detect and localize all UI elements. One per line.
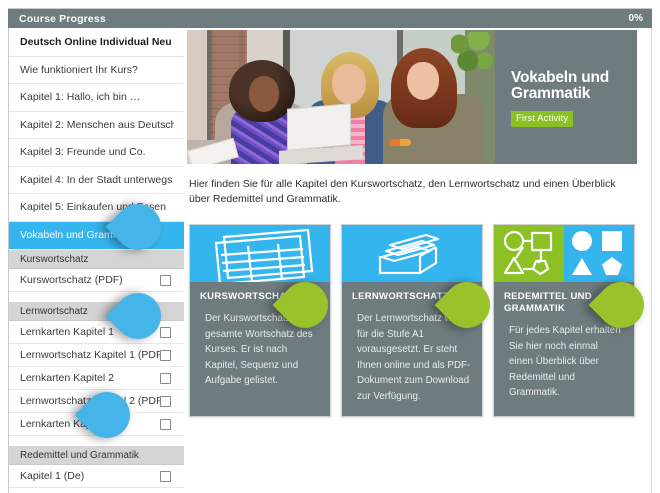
- sidebar-item-label: Kapitel 4: In der Stadt unterwegs: [20, 174, 172, 186]
- shapes-diagram-left: [494, 225, 564, 282]
- sidebar-spacer: [9, 436, 184, 445]
- course-page: Course Progress 0% Deutsch Online Indivi…: [0, 0, 660, 493]
- sidebar-entry-label: Lernkarten Kapitel 2: [20, 372, 114, 384]
- stacked-worksheets-icon: [190, 225, 330, 282]
- sidebar-course-title-label: Deutsch Online Individual Neu: [20, 36, 172, 48]
- hero-banner: Vokabeln und Grammatik First Activity: [187, 30, 637, 164]
- sidebar-entry-label: Lernkarten Kapitel 1: [20, 326, 114, 338]
- sidebar-item-kapitel-1[interactable]: Kapitel 1: Hallo, ich bin …: [9, 84, 184, 112]
- hero-title: Vokabeln und Grammatik: [511, 70, 621, 102]
- photo-laptop: [279, 106, 363, 162]
- sidebar-group-label: Kurswortschatz: [20, 254, 88, 265]
- sidebar-item-label: Kapitel 2: Menschen aus Deutschland: [20, 119, 174, 131]
- sidebar-entry-lernkarten-kapitel-2[interactable]: Lernkarten Kapitel 2: [9, 367, 184, 390]
- sidebar-item-wie-funktioniert[interactable]: Wie funktioniert Ihr Kurs?: [9, 57, 184, 85]
- main-content: Vokabeln und Grammatik First Activity Hi…: [184, 29, 644, 492]
- card-text: Der Lernwortschatz wird für die Stufe A1…: [352, 311, 472, 404]
- sidebar-course-title: Deutsch Online Individual Neu: [9, 29, 184, 57]
- shapes-diagram-right: [564, 225, 634, 282]
- sidebar-entry-label: Kurswortschatz (PDF): [20, 274, 123, 286]
- sidebar-group-kurswortschatz: Kurswortschatz: [9, 249, 184, 269]
- sidebar-entry-label: Kapitel 1 (De): [20, 470, 84, 482]
- sidebar-item-kapitel-2[interactable]: Kapitel 2: Menschen aus Deutschland: [9, 112, 184, 140]
- sidebar-entry-kurswortschatz-pdf[interactable]: Kurswortschatz (PDF): [9, 269, 184, 292]
- sidebar-group-label: Lernwortschatz: [20, 306, 88, 317]
- sidebar-item-label: Wie funktioniert Ihr Kurs?: [20, 64, 138, 76]
- intro-paragraph: Hier finden Sie für alle Kapitel den Kur…: [189, 177, 634, 207]
- sidebar-entry-kapitel-1-de[interactable]: Kapitel 1 (De): [9, 465, 184, 488]
- sidebar-entry-checkbox[interactable]: [160, 396, 171, 407]
- sidebar-group-label: Redemittel und Grammatik: [20, 450, 139, 461]
- sidebar-entry-checkbox[interactable]: [160, 471, 171, 482]
- sidebar-item-kapitel-3[interactable]: Kapitel 3: Freunde und Co.: [9, 139, 184, 167]
- first-activity-badge[interactable]: First Activity: [511, 111, 573, 127]
- sidebar-entry-label: Lernwortschatz Kapitel 1 (PDF): [20, 349, 160, 361]
- shapes-diagram-icon: [494, 225, 634, 282]
- hero-photo: [187, 30, 495, 164]
- sidebar-entry-checkbox[interactable]: [160, 350, 171, 361]
- sidebar-item-label: Kapitel 1: Hallo, ich bin …: [20, 91, 140, 103]
- card-text: Für jedes Kapitel erhalten Sie hier noch…: [504, 323, 624, 401]
- course-progress-bar: Course Progress 0%: [8, 9, 652, 28]
- sidebar-entry-checkbox[interactable]: [160, 327, 171, 338]
- sidebar-entry-checkbox[interactable]: [160, 275, 171, 286]
- sidebar-spacer: [9, 292, 184, 301]
- sidebar-entry-lernwortschatz-kapitel-1-pdf[interactable]: Lernwortschatz Kapitel 1 (PDF): [9, 344, 184, 367]
- sidebar-item-label: Kapitel 3: Freunde und Co.: [20, 146, 146, 158]
- photo-student-right: [383, 48, 483, 164]
- course-progress-value: 0%: [629, 13, 643, 24]
- sidebar-entry-checkbox[interactable]: [160, 419, 171, 430]
- card-box-icon: [342, 225, 482, 282]
- card-row: KURSWORTSCHATZ Der Kurswortschatz ist de…: [189, 224, 644, 417]
- sidebar-item-kapitel-4[interactable]: Kapitel 4: In der Stadt unterwegs: [9, 167, 184, 195]
- course-progress-label: Course Progress: [19, 13, 106, 25]
- sidebar-entry-kapitel-1-en[interactable]: Kapitel 1 (En): [9, 488, 184, 492]
- hero-caption: Vokabeln und Grammatik First Activity: [495, 30, 637, 164]
- sidebar-entry-checkbox[interactable]: [160, 373, 171, 384]
- sidebar-group-redemittel-und-grammatik: Redemittel und Grammatik: [9, 445, 184, 465]
